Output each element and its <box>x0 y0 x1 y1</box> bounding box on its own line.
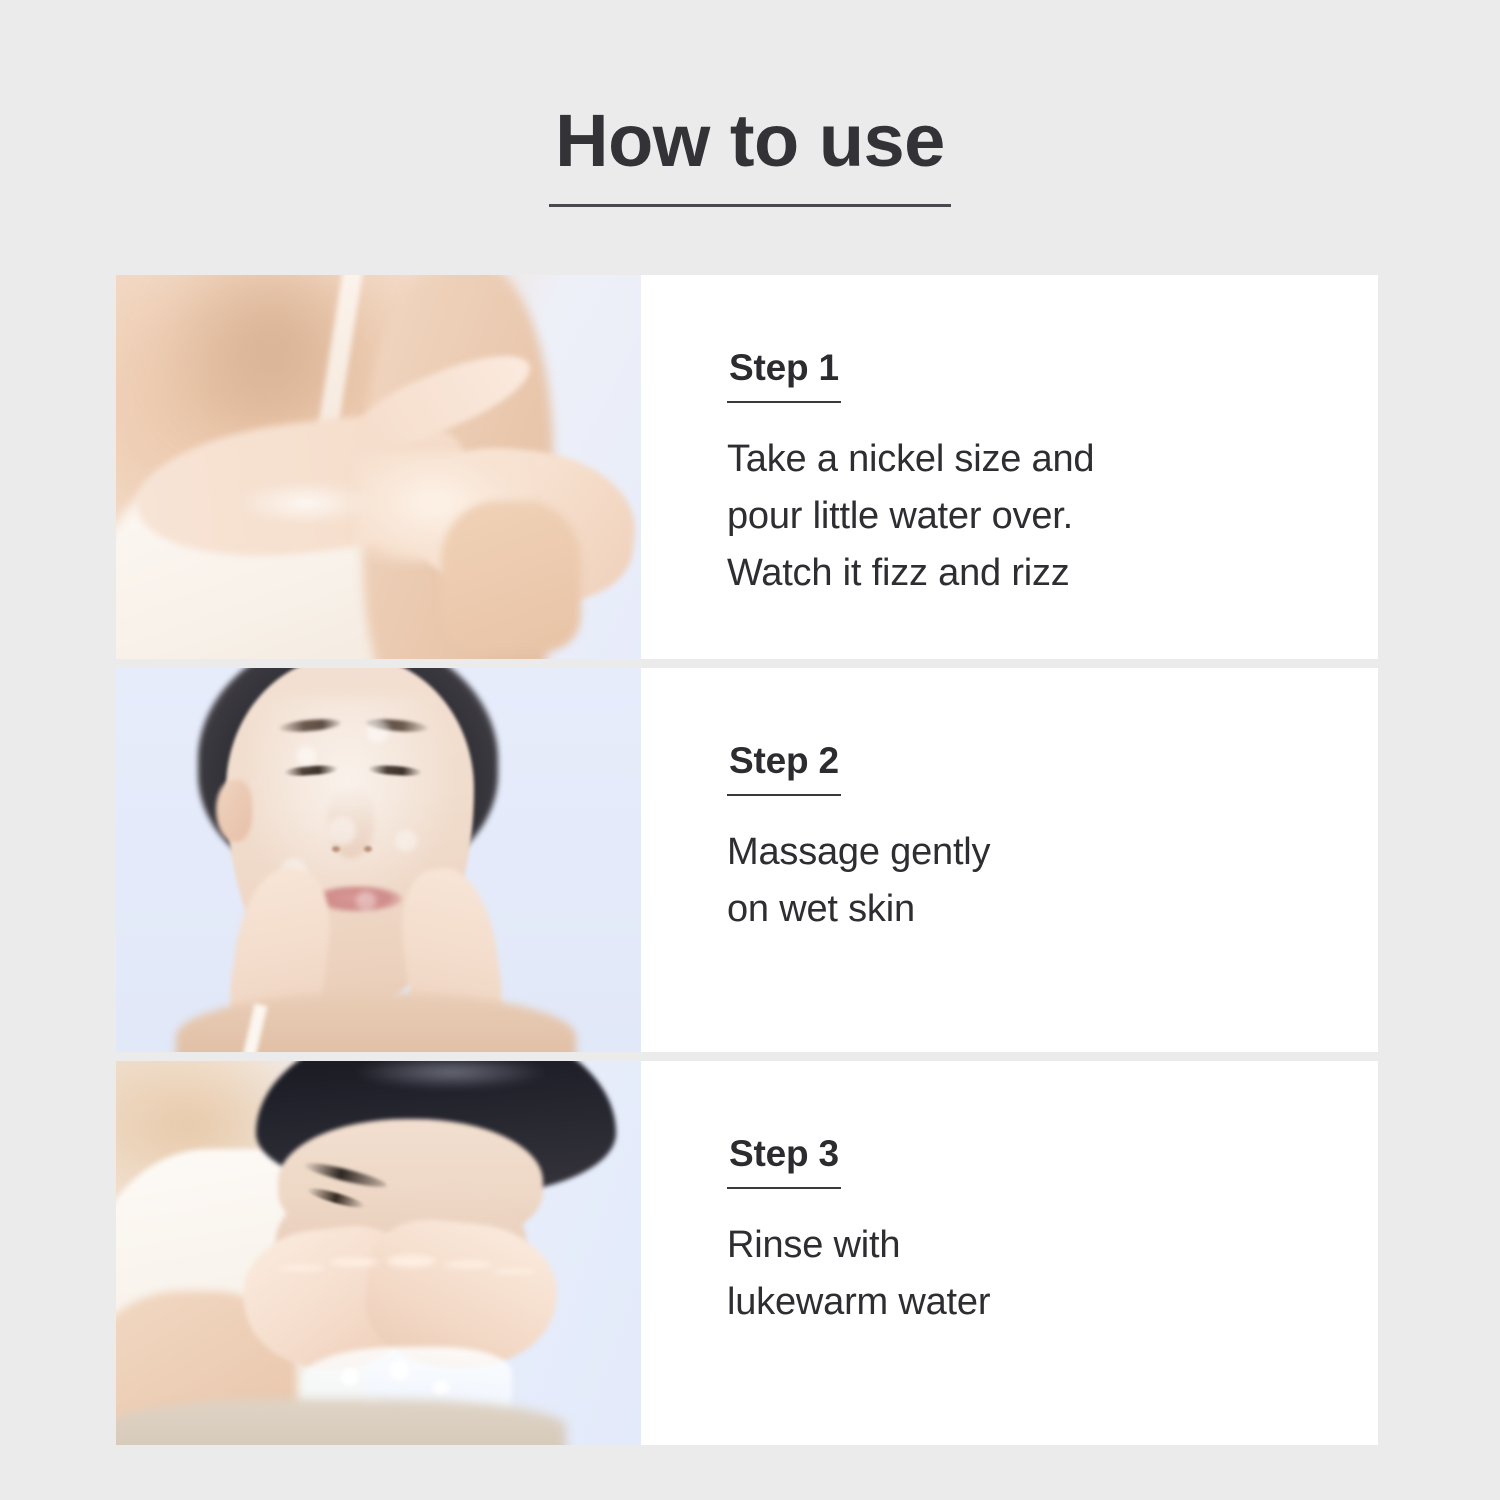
step-2-description: Massage gently on wet skin <box>727 824 1378 938</box>
hair-highlight-shape <box>356 1061 546 1089</box>
step-3-description: Rinse with lukewarm water <box>727 1217 1378 1331</box>
step-1-description: Take a nickel size and pour little water… <box>727 431 1378 602</box>
step-row: Step 2 Massage gently on wet skin <box>116 668 1378 1052</box>
ear-shape <box>216 780 252 842</box>
page-header: How to use <box>0 104 1500 207</box>
step-1-photo <box>116 275 641 659</box>
lower-garment-shape <box>116 1399 566 1445</box>
hands-dispensing-cleanser-illustration <box>116 275 641 659</box>
wrist-shape <box>441 501 581 651</box>
step-row: Step 1 Take a nickel size and pour littl… <box>116 275 1378 659</box>
step-3-text: Step 3 Rinse with lukewarm water <box>641 1061 1378 1445</box>
woman-massaging-face-illustration <box>116 668 641 1052</box>
product-sheen-shape <box>236 480 376 526</box>
step-3-label: Step 3 <box>727 1135 841 1189</box>
step-3-photo <box>116 1061 641 1445</box>
fingers-shape <box>276 1239 536 1297</box>
woman-rinsing-face-illustration <box>116 1061 641 1445</box>
step-2-label: Step 2 <box>727 742 841 796</box>
step-1-label: Step 1 <box>727 349 841 403</box>
step-2-photo <box>116 668 641 1052</box>
page-title: How to use <box>549 104 951 207</box>
step-2-text: Step 2 Massage gently on wet skin <box>641 668 1378 1052</box>
step-row: Step 3 Rinse with lukewarm water <box>116 1061 1378 1445</box>
how-to-use-steps-card: Step 1 Take a nickel size and pour littl… <box>116 275 1378 1445</box>
step-1-text: Step 1 Take a nickel size and pour littl… <box>641 275 1378 659</box>
